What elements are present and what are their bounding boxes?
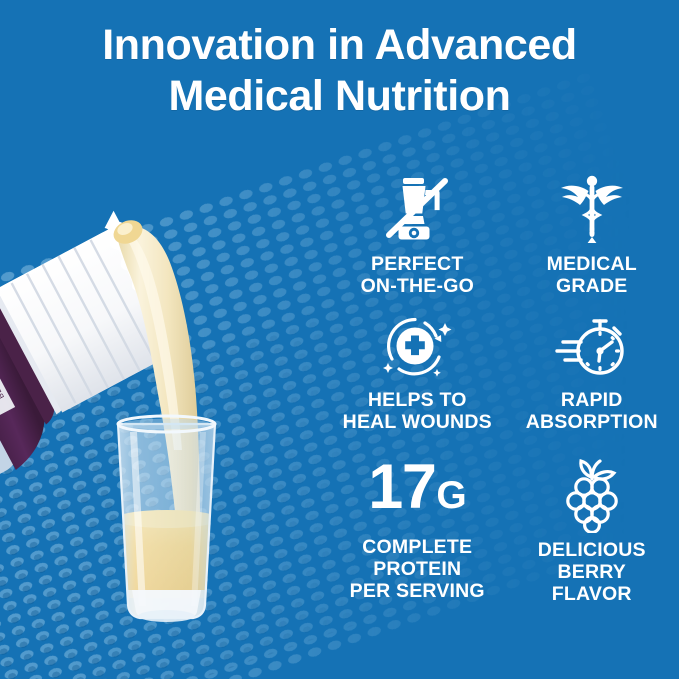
page-title: Innovation in Advanced Medical Nutrition: [0, 20, 679, 121]
feature-protein-stat: 17G COMPLETE PROTEIN PER SERVING: [330, 450, 505, 626]
feature-perfect-on-the-go: PERFECT ON-THE-GO: [330, 168, 505, 308]
protein-value: 17: [368, 458, 435, 518]
feature-helps-heal-wounds: HELPS TO HEAL WOUNDS: [330, 308, 505, 450]
berry-cluster-icon: [554, 458, 630, 532]
product-image: BERRY FLAVOR: [0, 150, 330, 679]
stopwatch-speed-icon: [553, 312, 631, 382]
title-line-2: Medical Nutrition: [0, 71, 679, 122]
protein-grams: 17G: [368, 458, 466, 532]
blender-crossed-out-icon: [380, 172, 454, 246]
feature-rapid-absorption: RAPID ABSORPTION: [505, 308, 679, 450]
feature-label: DELICIOUS BERRY FLAVOR: [538, 539, 646, 605]
feature-label: PERFECT ON-THE-GO: [361, 253, 474, 297]
feature-label: RAPID ABSORPTION: [526, 389, 658, 433]
feature-label: HELPS TO HEAL WOUNDS: [343, 389, 492, 433]
product-infographic: Innovation in Advanced Medical Nutrition: [0, 0, 679, 679]
medical-cross-circle-arrow-icon: [379, 312, 455, 382]
feature-label: COMPLETE PROTEIN PER SERVING: [350, 536, 485, 602]
feature-grid: PERFECT ON-THE-GO: [330, 168, 679, 638]
feature-berry-flavor: DELICIOUS BERRY FLAVOR: [505, 450, 679, 626]
caduceus-icon: [555, 172, 629, 246]
title-line-1: Innovation in Advanced: [0, 20, 679, 71]
drinking-glass: [110, 416, 230, 624]
feature-label: MEDICAL GRADE: [547, 253, 637, 297]
feature-medical-grade: MEDICAL GRADE: [505, 168, 679, 308]
protein-unit: G: [436, 477, 466, 514]
